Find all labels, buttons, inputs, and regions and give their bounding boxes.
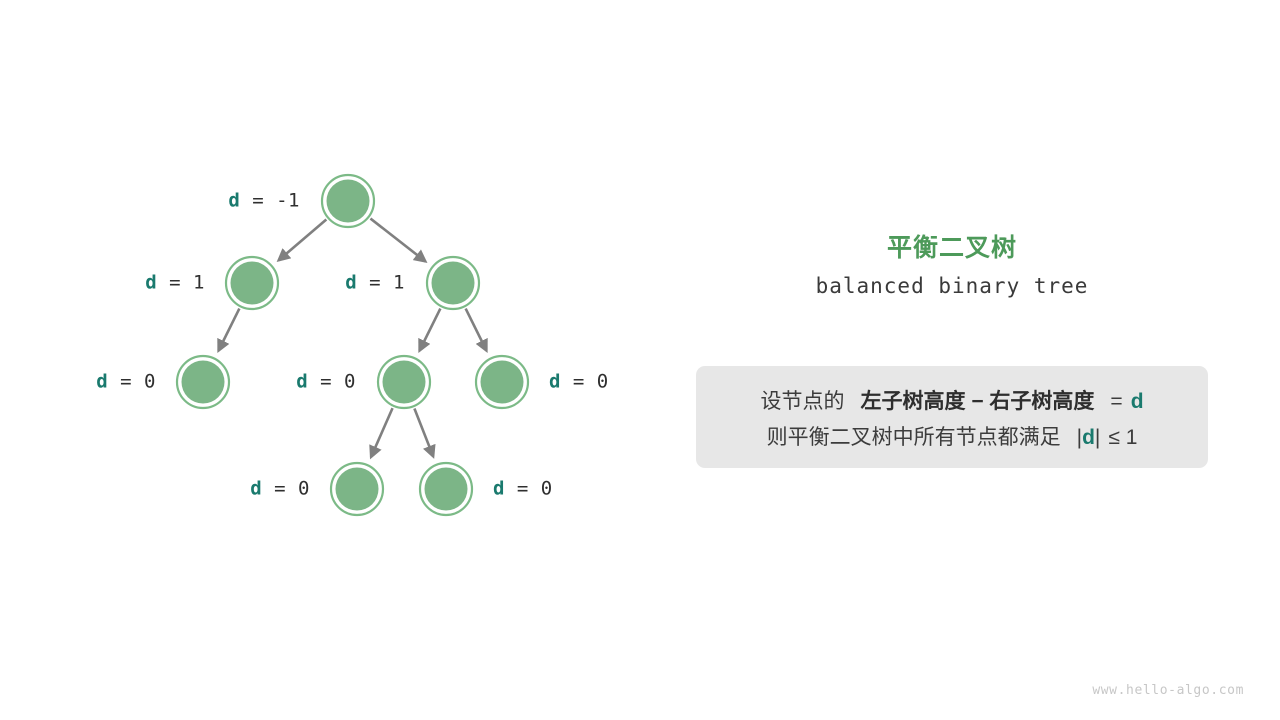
node-label-value: = 0 [262,478,310,500]
node-label-variable: d [228,190,240,212]
info-panel: 平衡二叉树 balanced binary tree 设节点的左子树高度 − 右… [696,0,1208,720]
node-disc [481,361,524,404]
node-balance-label: d = 1 [0,274,405,293]
node-balance-label: d = 0 [493,480,553,499]
node-label-variable: d [493,478,505,500]
line1-prefix: 设节点的 [760,390,844,413]
tree-node[interactable] [331,463,383,515]
tree-edge [279,220,327,261]
node-label-value: = 0 [308,371,356,393]
node-label-variable: d [549,371,561,393]
site-watermark: www.hello-algo.com [1092,683,1244,698]
panel-subtitle: balanced binary tree [696,274,1208,298]
node-disc [336,468,379,511]
panel-title: 平衡二叉树 [696,228,1208,264]
tree-edge [420,309,441,351]
line2-variable: d [1082,426,1095,449]
tree-edge [370,219,425,262]
tree-nodes [177,175,528,515]
node-label-variable: d [296,371,308,393]
node-disc [432,262,475,305]
line2-bar-close: | [1095,426,1100,449]
definition-line-1: 设节点的左子树高度 − 右子树高度=d [696,384,1208,420]
tree-edge [414,409,433,457]
tree-node[interactable] [420,463,472,515]
binary-tree-diagram: d = -1d = 1d = 1d = 0d = 0d = 0d = 0d = … [0,0,660,720]
node-label-value: = 0 [561,371,609,393]
node-balance-label: d = -1 [0,192,300,211]
node-label-value: = 1 [357,272,405,294]
definition-line-2: 则平衡二叉树中所有节点都满足|d|≤ 1 [696,420,1208,456]
node-label-variable: d [345,272,357,294]
tree-edges [219,219,487,457]
tree-edge [371,408,392,457]
line2-prefix: 则平衡二叉树中所有节点都满足 [767,426,1061,449]
node-label-value: = -1 [240,190,300,212]
node-balance-label: d = 0 [549,373,609,392]
node-label-value: = 0 [505,478,553,500]
tree-node[interactable] [322,175,374,227]
tree-edge [219,309,240,351]
node-balance-label: d = 0 [0,480,310,499]
line2-relation: ≤ 1 [1108,426,1137,449]
node-disc [327,180,370,223]
tree-node[interactable] [476,356,528,408]
line1-variable: d [1131,390,1144,413]
line1-bold: 左子树高度 − 右子树高度 [860,390,1094,413]
line1-equals: = [1110,390,1122,413]
tree-node[interactable] [427,257,479,309]
definition-box: 设节点的左子树高度 − 右子树高度=d 则平衡二叉树中所有节点都满足|d|≤ 1 [696,366,1208,468]
tree-node[interactable] [378,356,430,408]
diagram-page: d = -1d = 1d = 1d = 0d = 0d = 0d = 0d = … [0,0,1280,720]
node-disc [383,361,426,404]
tree-graphics [0,0,660,720]
node-label-variable: d [250,478,262,500]
node-balance-label: d = 0 [0,373,356,392]
node-disc [425,468,468,511]
tree-edge [466,309,487,351]
